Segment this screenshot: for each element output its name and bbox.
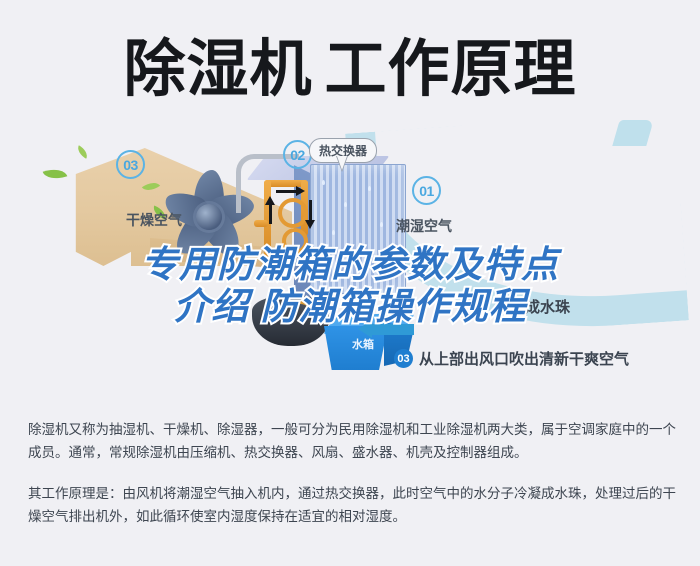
overlay-line-2: 介绍 防潮箱操作规程	[0, 286, 700, 328]
water-tank-label: 水箱	[334, 336, 392, 352]
body-paragraph-1: 除湿机又称为抽湿机、干燥机、除湿器，一般可分为民用除湿机和工业除湿机两大类，属于…	[28, 418, 676, 464]
flow-arrow-down-icon	[309, 200, 312, 220]
flow-arrow-up-icon	[269, 204, 272, 224]
title-part-1: 除湿机	[123, 35, 312, 104]
flow-arrow-right-head-icon	[296, 186, 305, 196]
flow-arrow-right-icon	[276, 190, 296, 193]
callout-label-humid-air: 潮湿空气	[396, 216, 452, 236]
leaf-icon	[75, 145, 90, 158]
title-part-2: 工作原理	[325, 35, 577, 104]
overlay-headline: 专用防潮箱的参数及特点 介绍 防潮箱操作规程	[0, 244, 700, 328]
callout-bubble-tail-icon	[336, 156, 348, 172]
article-body: 除湿机又称为抽湿机、干燥机、除湿器，一般可分为民用除湿机和工业除湿机两大类，属于…	[28, 418, 676, 546]
flow-arrow-up-head-icon	[265, 196, 275, 205]
callout-number-02: 02	[283, 140, 312, 169]
callout-number-01: 01	[412, 176, 441, 205]
page-root: 除湿机工作原理	[0, 0, 700, 566]
step-label-03: 从上部出风口吹出清新干爽空气	[419, 348, 629, 369]
page-title: 除湿机工作原理	[0, 34, 700, 106]
overlay-line-1: 专用防潮箱的参数及特点	[141, 244, 559, 285]
step-item-03: 03 从上部出风口吹出清新干爽空气	[394, 348, 629, 369]
step-badge-03: 03	[394, 349, 413, 368]
callout-number-03: 03	[116, 150, 145, 179]
callout-label-dry-air: 干燥空气	[126, 210, 182, 230]
leaf-icon	[43, 165, 68, 183]
flow-arrow-down-head-icon	[305, 220, 315, 229]
body-paragraph-2: 其工作原理是：由风机将潮湿空气抽入机内，通过热交换器，此时空气中的水分子冷凝成水…	[28, 482, 676, 528]
